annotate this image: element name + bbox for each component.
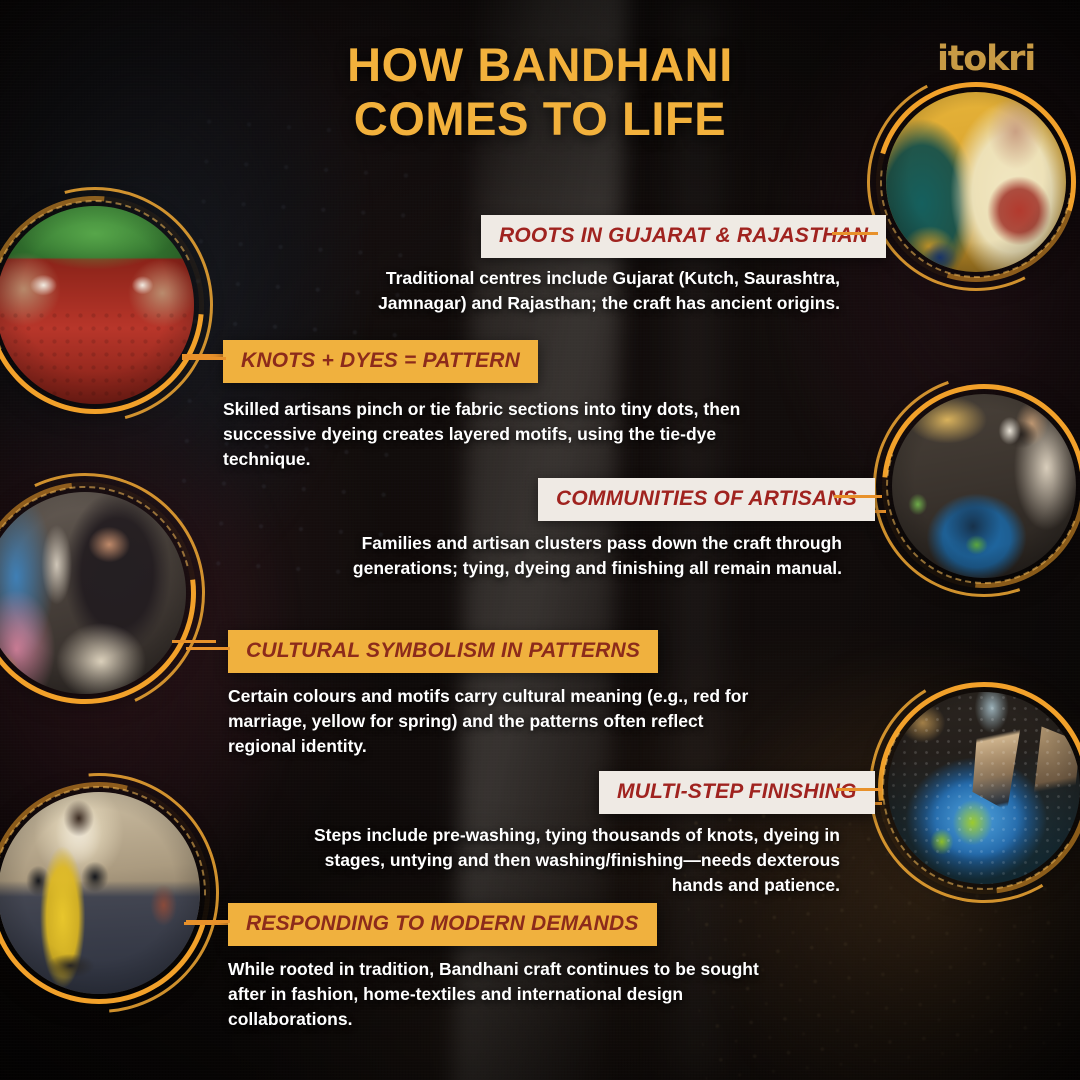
- section-heading-knots[interactable]: KNOTS + DYES = PATTERN: [223, 340, 538, 383]
- section-body-modern-demands: While rooted in tradition, Bandhani craf…: [228, 957, 776, 1032]
- section-heading-roots[interactable]: ROOTS IN GUJARAT & RAJASTHAN: [481, 215, 886, 258]
- photo-dyer-yellow-fabric: [0, 782, 210, 1004]
- section-heading-modern-demands[interactable]: RESPONDING TO MODERN DEMANDS: [228, 903, 657, 946]
- connector-line-2: [182, 357, 226, 360]
- brand-logo[interactable]: itokri: [930, 36, 1042, 82]
- page-title-line-1: HOW BANDHANI: [347, 38, 733, 91]
- infographic-poster: HOW BANDHANI COMES TO LIFE itokri: [0, 0, 1080, 1080]
- photo-hands-tying-red-fabric: [0, 196, 204, 414]
- section-body-finishing: Steps include pre-washing, tying thousan…: [300, 823, 840, 898]
- connector-line-1: [832, 232, 878, 235]
- section-body-communities: Families and artisan clusters pass down …: [300, 531, 842, 581]
- section-heading-symbolism[interactable]: CULTURAL SYMBOLISM IN PATTERNS: [228, 630, 658, 673]
- photo-artisan-women-white-cloth: [0, 482, 196, 704]
- connector-line-6: [186, 920, 230, 923]
- section-heading-finishing[interactable]: MULTI-STEP FINISHING: [599, 771, 875, 814]
- section-body-symbolism: Certain colours and motifs carry cultura…: [228, 684, 760, 759]
- connector-line-4: [186, 647, 230, 650]
- photo-indigo-vat: [878, 682, 1080, 894]
- section-body-knots: Skilled artisans pinch or tie fabric sec…: [223, 397, 753, 472]
- section-body-roots: Traditional centres include Gujarat (Kut…: [300, 266, 840, 316]
- brand-logo-text: itokri: [937, 42, 1035, 77]
- section-heading-communities[interactable]: COMMUNITIES OF ARTISANS: [538, 478, 875, 521]
- connector-line-3: [834, 495, 882, 498]
- connector-line-5: [836, 788, 882, 791]
- photo-women-tying-knots: [876, 82, 1076, 282]
- photo-dyer-blue-tub: [882, 384, 1080, 588]
